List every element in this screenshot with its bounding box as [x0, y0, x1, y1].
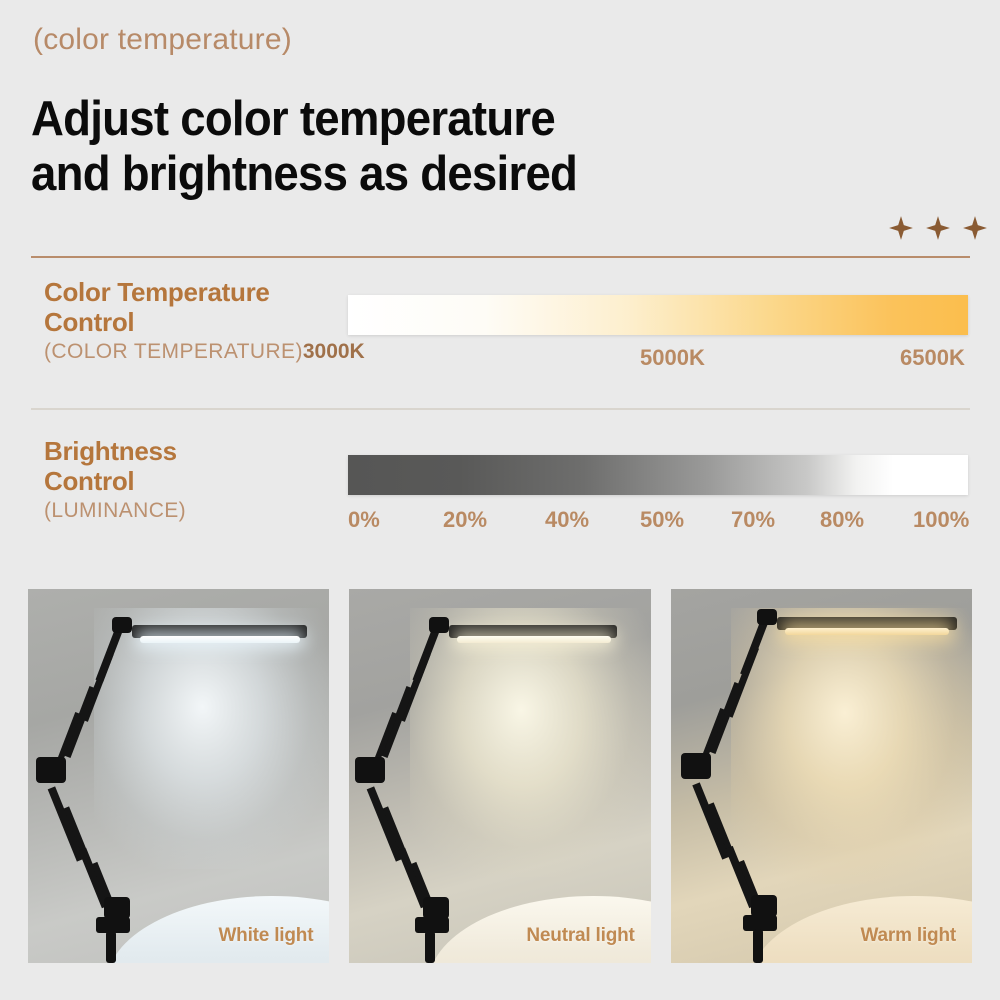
brightness-title-line-1: Brightness [44, 437, 344, 467]
tick-label: 50% [640, 507, 684, 533]
eyebrow-label: (color temperature) [33, 23, 292, 57]
color-temperature-title-line-2: Control [44, 308, 344, 338]
color-temperature-ticks: 3000K 5000K 6500K [0, 345, 1000, 375]
page-title-line-2: and brightness as desired [31, 147, 577, 202]
page-title: Adjust color temperature and brightness … [31, 92, 577, 202]
sparkle-decoration [888, 209, 988, 247]
photo-caption: White light [218, 925, 313, 947]
four-point-star-icon [888, 213, 914, 243]
brightness-title: Brightness Control [44, 437, 344, 497]
brightness-slider-track[interactable] [348, 455, 968, 495]
lamp-photo-gallery: White light Neutral light [28, 589, 972, 963]
divider-light [31, 408, 970, 410]
color-temperature-slider-track[interactable] [348, 295, 968, 335]
photo-caption: Warm light [861, 925, 956, 947]
tick-label: 80% [820, 507, 864, 533]
color-temperature-title: Color Temperature Control [44, 278, 344, 338]
gallery-item-neutral-light[interactable]: Neutral light [349, 589, 650, 963]
gallery-item-white-light[interactable]: White light [28, 589, 329, 963]
brightness-title-line-2: Control [44, 467, 344, 497]
tick-label: 0% [348, 507, 380, 533]
tick-label: 70% [731, 507, 775, 533]
tick-label: 20% [443, 507, 487, 533]
tick-label: 6500K [900, 345, 965, 371]
desk-lamp-illustration [671, 589, 972, 963]
desk-lamp-illustration [28, 589, 329, 963]
tick-label: 40% [545, 507, 589, 533]
brightness-ticks: 0% 20% 40% 50% 70% 80% 100% [0, 507, 1000, 537]
tick-label: 5000K [640, 345, 705, 371]
photo-caption: Neutral light [526, 925, 634, 947]
four-point-star-icon [962, 213, 988, 243]
page-title-line-1: Adjust color temperature [31, 92, 577, 147]
color-temperature-title-line-1: Color Temperature [44, 278, 344, 308]
four-point-star-icon [925, 213, 951, 243]
tick-label: 100% [913, 507, 969, 533]
desk-lamp-illustration [349, 589, 650, 963]
divider-accent [31, 256, 970, 258]
gallery-item-warm-light[interactable]: Warm light [671, 589, 972, 963]
